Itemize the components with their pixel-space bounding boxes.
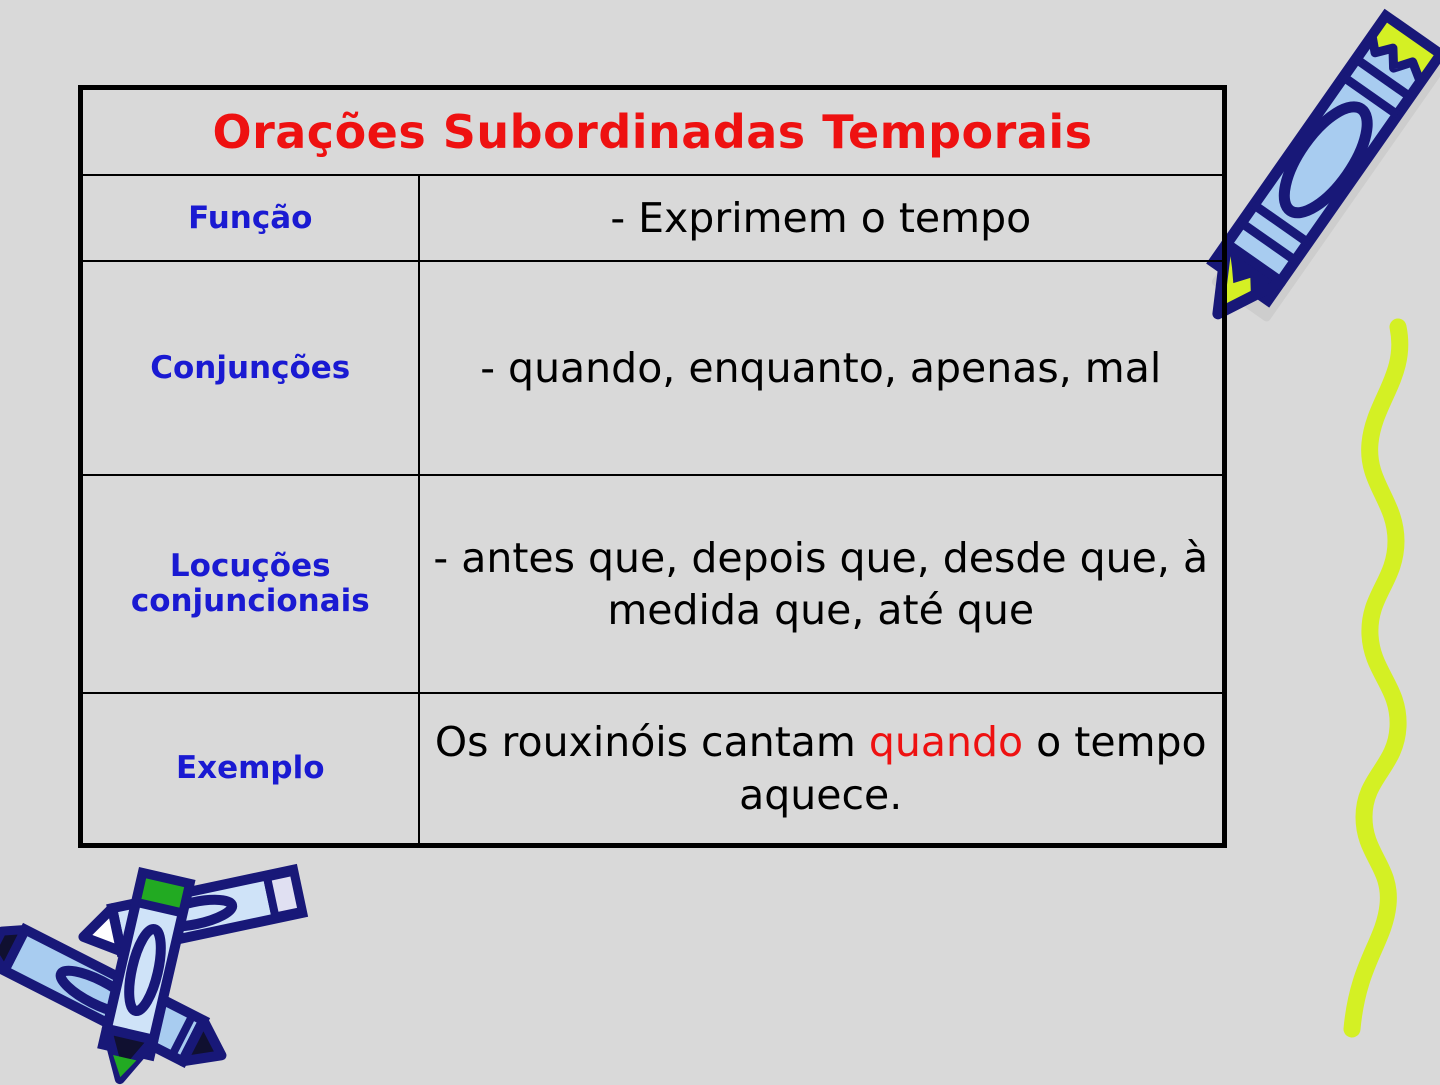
table-row: Locuções conjuncionais - antes que, depo…	[81, 475, 1225, 693]
title-cell: Orações Subordinadas Temporais	[81, 88, 1225, 176]
row-label-exemplo: Exemplo	[81, 693, 419, 846]
crayon-icon	[1195, 0, 1440, 348]
table-row: Conjunções - quando, enquanto, apenas, m…	[81, 261, 1225, 475]
row-label-funcao: Função	[81, 175, 419, 261]
value-text: - antes que, depois que, desde que, à me…	[430, 532, 1213, 637]
crayons-icon	[0, 850, 325, 1085]
value-text: - Exprimem o tempo	[430, 192, 1213, 244]
label-text: Conjunções	[93, 351, 408, 386]
row-label-locucoes: Locuções conjuncionais	[81, 475, 419, 693]
table-row-title: Orações Subordinadas Temporais	[81, 88, 1225, 176]
page-title: Orações Subordinadas Temporais	[212, 105, 1092, 159]
row-value-funcao: - Exprimem o tempo	[419, 175, 1225, 261]
label-text-line2: conjuncionais	[93, 584, 408, 619]
table-row: Função - Exprimem o tempo	[81, 175, 1225, 261]
slide-canvas: Orações Subordinadas Temporais Função - …	[0, 0, 1440, 1080]
row-value-conjuncoes: - quando, enquanto, apenas, mal	[419, 261, 1225, 475]
grammar-table: Orações Subordinadas Temporais Função - …	[78, 85, 1227, 848]
example-highlight: quando	[869, 718, 1023, 766]
label-text: Exemplo	[93, 751, 408, 786]
table-row: Exemplo Os rouxinóis cantam quando o tem…	[81, 693, 1225, 846]
value-text: - quando, enquanto, apenas, mal	[430, 342, 1213, 394]
example-prefix: Os rouxinóis cantam	[435, 718, 869, 766]
label-text: Função	[93, 201, 408, 236]
squiggle-line-icon	[1330, 315, 1440, 1045]
row-label-conjuncoes: Conjunções	[81, 261, 419, 475]
row-value-exemplo: Os rouxinóis cantam quando o tempo aquec…	[419, 693, 1225, 846]
value-text: Os rouxinóis cantam quando o tempo aquec…	[430, 716, 1213, 821]
label-text-line1: Locuções	[93, 549, 408, 584]
row-value-locucoes: - antes que, depois que, desde que, à me…	[419, 475, 1225, 693]
